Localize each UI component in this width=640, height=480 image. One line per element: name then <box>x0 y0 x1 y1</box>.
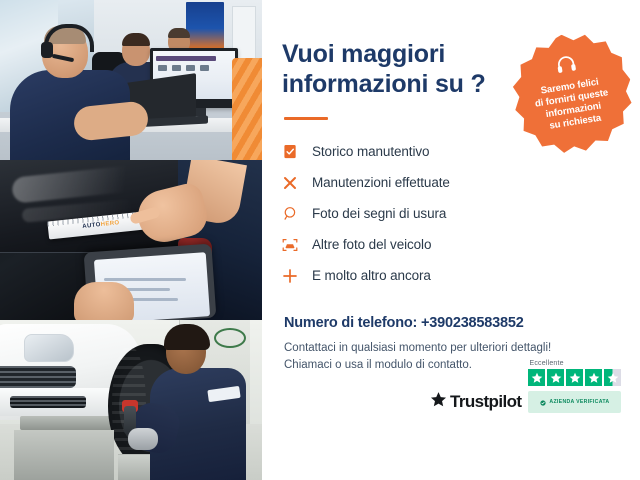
trustpilot-star-icon <box>430 391 447 413</box>
autohero-ruler-inspection-photo: AUTOHERO <box>0 160 262 320</box>
list-item-label: Altre foto del veicolo <box>312 237 431 252</box>
list-item: Altre foto del veicolo <box>282 229 618 260</box>
trustpilot-rating-block: Eccellente <box>528 360 621 413</box>
subcopy-line-1: Contattaci in qualsiasi momento per ulte… <box>284 342 551 354</box>
promo-banner: AUTOHERO <box>0 0 640 480</box>
air-intake <box>10 396 86 408</box>
list-item: Foto dei segni di usura <box>282 198 618 229</box>
headline-line-2: informazioni su ? <box>282 70 486 98</box>
screen-widget <box>158 65 167 71</box>
checklist-document-icon <box>282 144 298 160</box>
autohero-wordmark-hero: HERO <box>100 220 119 228</box>
verified-business-badge: AZIENDA VERIFICATA <box>528 391 621 413</box>
title-underline-divider <box>284 117 328 120</box>
list-item-label: Manutenzioni effettuate <box>312 175 450 190</box>
rating-star-half <box>604 369 621 386</box>
list-item-label: Foto dei segni di usura <box>312 206 446 221</box>
trustpilot-badge[interactable]: Trustpilot Eccellente <box>430 360 621 413</box>
work-glove <box>128 428 158 450</box>
orange-backdrop-prop <box>232 58 262 160</box>
car-photo-frame-icon <box>282 237 298 253</box>
headline-line-1: Vuoi maggiori <box>282 40 445 68</box>
verified-label: AZIENDA VERIFICATA <box>549 399 609 405</box>
phone-number-text[interactable]: Numero di telefono: +390238583852 <box>284 315 618 331</box>
trustpilot-wordmark: Trustpilot <box>450 392 521 412</box>
rating-star-filled <box>528 369 545 386</box>
page-title: Vuoi maggioriinformazioni su ? <box>282 40 502 99</box>
rating-star-filled <box>566 369 583 386</box>
headset-icon <box>554 53 580 81</box>
plus-icon <box>282 268 298 284</box>
tablet-text-line <box>104 278 186 281</box>
inspector-hand <box>74 282 134 320</box>
promo-content: Vuoi maggioriinformazioni su ? Storico m… <box>262 0 640 480</box>
list-item: E molto altro ancora <box>282 260 618 291</box>
rating-star-filled <box>547 369 564 386</box>
burst-badge-text: Saremo felici di fornirti queste informa… <box>521 74 623 137</box>
trustpilot-rating-word: Eccellente <box>529 360 563 367</box>
list-item-label: Storico manutentivo <box>312 144 429 159</box>
headlight <box>24 334 74 362</box>
radiator-grille <box>0 366 76 388</box>
trustpilot-star-rating <box>528 369 621 386</box>
lift-column <box>14 430 114 480</box>
coiled-hose <box>214 328 246 348</box>
agent-hair <box>122 33 150 46</box>
mechanic-wheel-inspection-photo <box>0 320 262 480</box>
screen-widget <box>172 65 181 71</box>
screen-toolbar <box>156 56 216 61</box>
wall-poster <box>186 2 224 50</box>
trustpilot-brand: Trustpilot <box>430 391 521 413</box>
autohero-wordmark-auto: AUTO <box>82 222 101 230</box>
agent-hair <box>168 28 190 38</box>
screen-widget <box>200 65 209 71</box>
list-item-label: E molto altro ancora <box>312 268 431 283</box>
verified-check-icon <box>540 393 546 411</box>
list-item: Manutenzioni effettuate <box>282 167 618 198</box>
rating-star-filled <box>585 369 602 386</box>
magnifier-icon <box>282 206 298 222</box>
crossed-tools-icon <box>282 175 298 191</box>
agent-arm <box>72 100 149 142</box>
screen-widget <box>186 65 195 71</box>
call-center-agents-photo <box>0 0 262 160</box>
benefits-list: Storico manutentivo Manutenzioni effettu… <box>282 136 618 291</box>
photo-strip: AUTOHERO <box>0 0 262 480</box>
